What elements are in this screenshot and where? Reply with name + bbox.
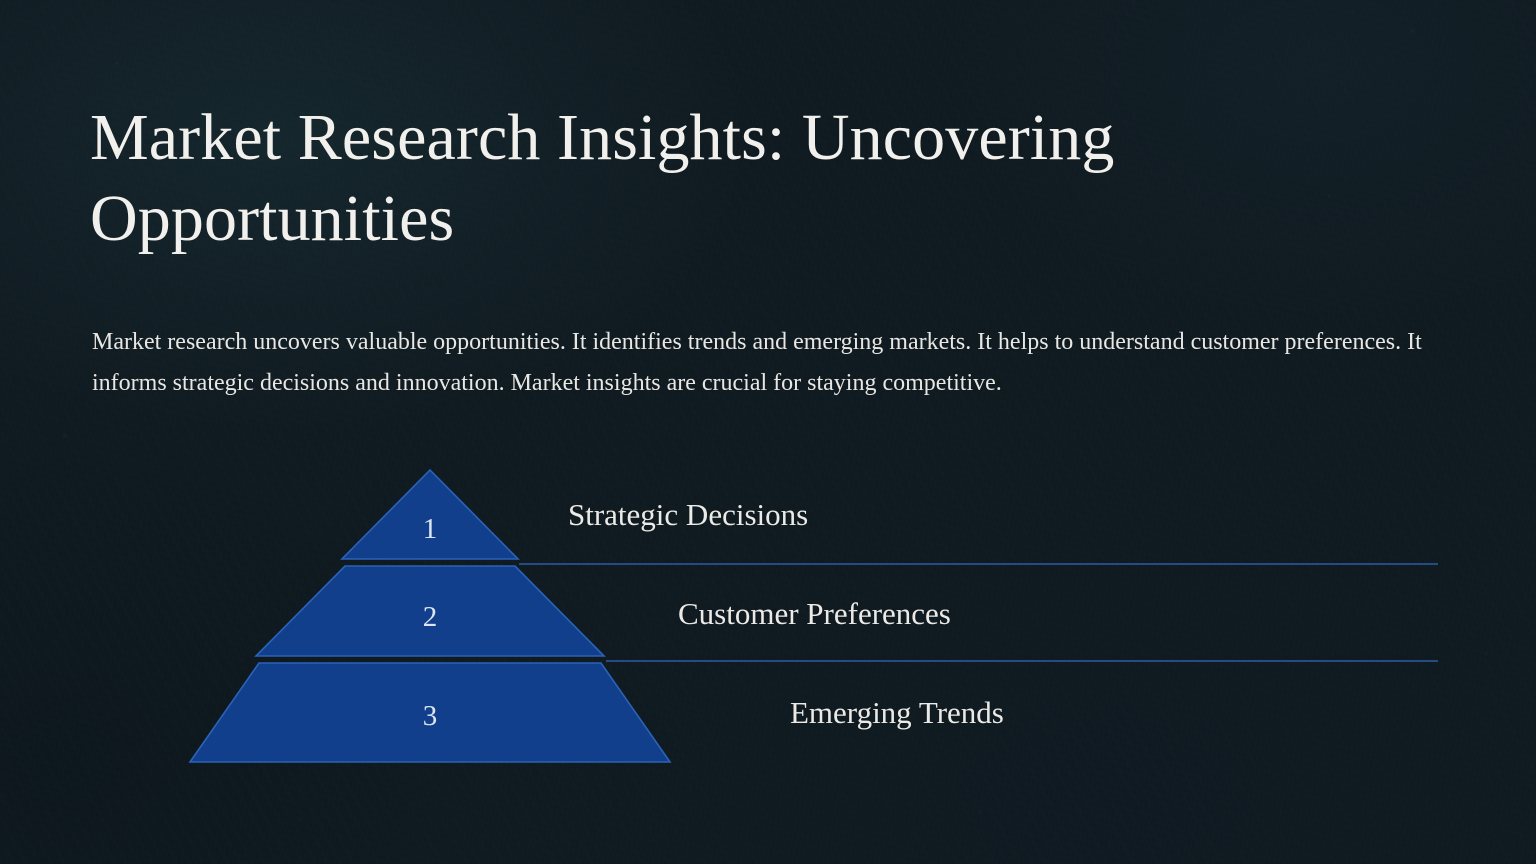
- slide-canvas: Market Research Insights: Uncovering Opp…: [0, 0, 1536, 864]
- pyramid-tier-3-label: Emerging Trends: [790, 695, 1004, 731]
- pyramid-tier-1-shape[interactable]: [342, 470, 518, 559]
- pyramid-tier-3-shape[interactable]: [190, 663, 670, 762]
- pyramid-tier-1-label: Strategic Decisions: [568, 497, 808, 533]
- slide-title: Market Research Insights: Uncovering Opp…: [90, 98, 1390, 259]
- pyramid-tier-2-label: Customer Preferences: [678, 596, 951, 632]
- slide-body-text: Market research uncovers valuable opport…: [92, 322, 1442, 404]
- pyramid-tier-2-shape[interactable]: [256, 566, 604, 656]
- pyramid-diagram: 1 2 3 Strategic Decisions Customer Prefe…: [0, 455, 1536, 785]
